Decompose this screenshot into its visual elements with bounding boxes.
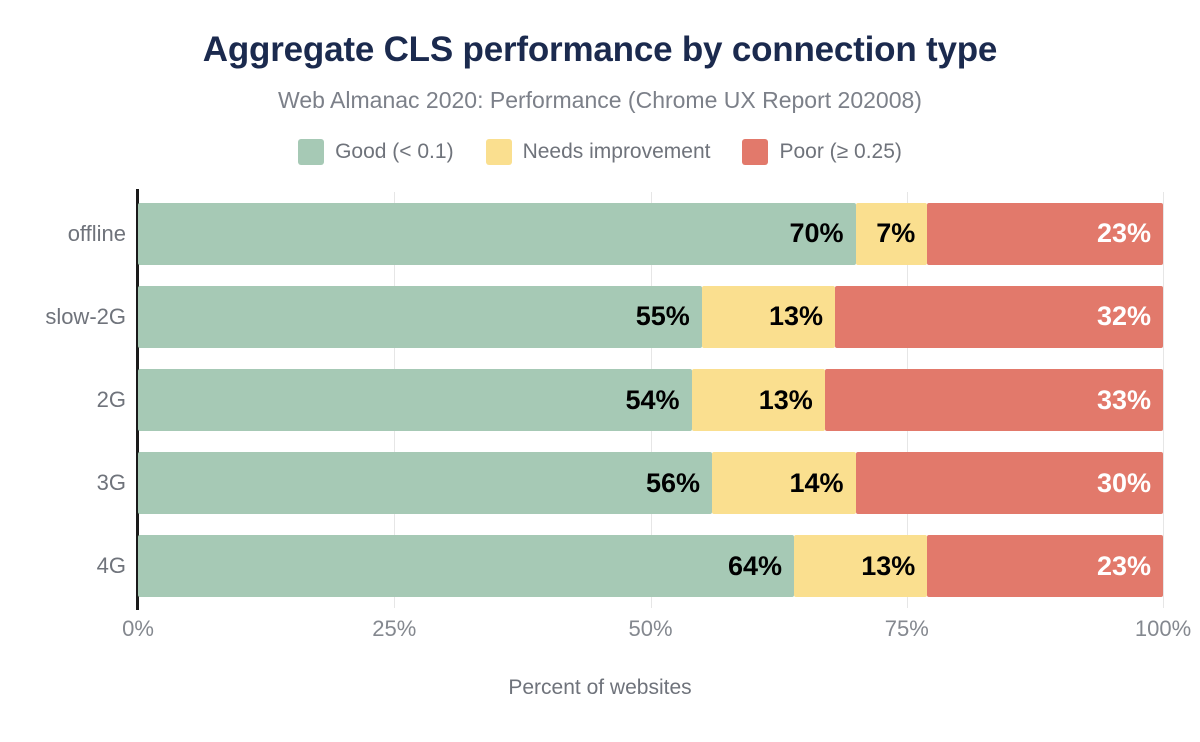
y-tick-label-3g: 3G — [16, 472, 126, 494]
chart-subtitle: Web Almanac 2020: Performance (Chrome UX… — [0, 87, 1200, 115]
bar-segment[interactable]: 13% — [702, 286, 835, 348]
legend-swatch-needs-improvement — [486, 139, 512, 165]
bar-row[interactable]: 64%13%23% — [138, 535, 1163, 597]
bar-segment[interactable]: 70% — [138, 203, 856, 265]
x-tick-label-100pct: 100% — [1135, 616, 1191, 642]
bar-segment[interactable]: 64% — [138, 535, 794, 597]
bar-segment[interactable]: 56% — [138, 452, 712, 514]
legend-swatch-good — [298, 139, 324, 165]
y-tick-label-2g: 2G — [16, 389, 126, 411]
bar-segment[interactable]: 7% — [856, 203, 928, 265]
x-axis-title: Percent of websites — [0, 676, 1200, 700]
legend-label-needs-improvement: Needs improvement — [523, 140, 711, 164]
x-tick-label-25pct: 25% — [372, 616, 416, 642]
bar-segment[interactable]: 13% — [692, 369, 825, 431]
bar-segment[interactable]: 54% — [138, 369, 692, 431]
bar-segment[interactable]: 55% — [138, 286, 702, 348]
x-tick-label-0pct: 0% — [122, 616, 154, 642]
bar-segment[interactable]: 23% — [927, 203, 1163, 265]
legend-item-good[interactable]: Good (< 0.1) — [298, 139, 453, 165]
y-tick-label-slow-2g: slow-2G — [16, 306, 126, 328]
x-tick-label-50pct: 50% — [628, 616, 672, 642]
bar-segment[interactable]: 32% — [835, 286, 1163, 348]
legend-label-good: Good (< 0.1) — [335, 140, 453, 164]
chart-legend: Good (< 0.1) Needs improvement Poor (≥ 0… — [0, 139, 1200, 165]
bar-segment[interactable]: 33% — [825, 369, 1163, 431]
legend-swatch-poor — [742, 139, 768, 165]
bar-segment[interactable]: 23% — [927, 535, 1163, 597]
legend-item-needs-improvement[interactable]: Needs improvement — [486, 139, 711, 165]
bar-row[interactable]: 56%14%30% — [138, 452, 1163, 514]
bar-segment[interactable]: 14% — [712, 452, 856, 514]
legend-item-poor[interactable]: Poor (≥ 0.25) — [742, 139, 901, 165]
legend-label-poor: Poor (≥ 0.25) — [779, 140, 901, 164]
bar-row[interactable]: 54%13%33% — [138, 369, 1163, 431]
bar-row[interactable]: 55%13%32% — [138, 286, 1163, 348]
bar-segment[interactable]: 13% — [794, 535, 927, 597]
chart-title: Aggregate CLS performance by connection … — [0, 30, 1200, 70]
y-tick-label-4g: 4G — [16, 555, 126, 577]
x-tick-label-75pct: 75% — [885, 616, 929, 642]
gridline-100pct — [1163, 192, 1164, 608]
bar-segment[interactable]: 30% — [856, 452, 1164, 514]
bar-row[interactable]: 70%7%23% — [138, 203, 1163, 265]
y-tick-label-offline: offline — [16, 223, 126, 245]
plot-inner: 70%7%23%55%13%32%54%13%33%56%14%30%64%13… — [138, 192, 1163, 608]
plot-area: 70%7%23%55%13%32%54%13%33%56%14%30%64%13… — [138, 192, 1163, 608]
